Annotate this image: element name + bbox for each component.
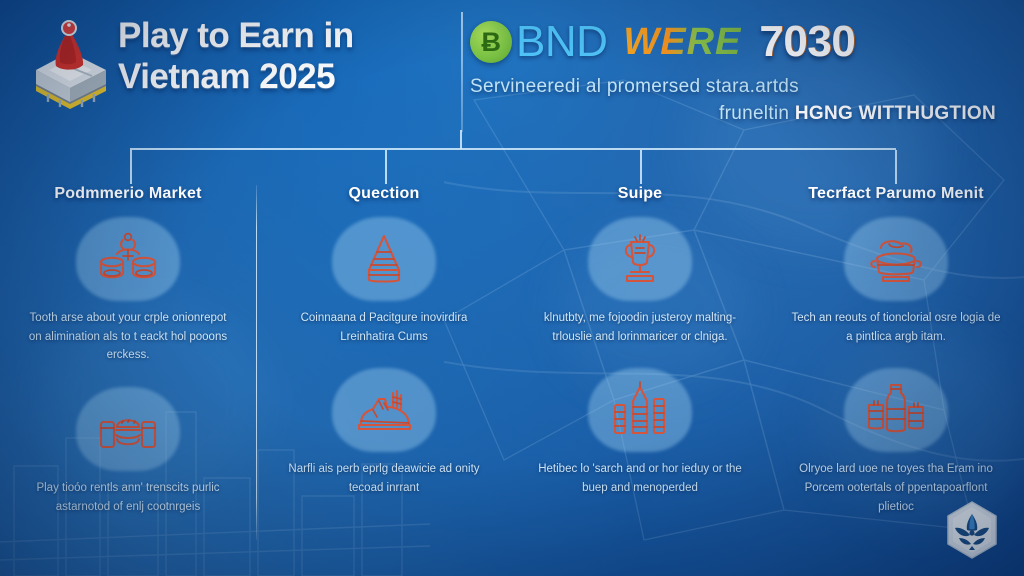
column-quection: Quection Coinnaana d Pacitgure inovirdir… (256, 185, 512, 560)
column-cell: Coinnaana d Pacitgure inovirdira Lreinha… (274, 217, 494, 346)
bottle-and-jars-icon (844, 368, 948, 452)
column-cell: Tooth arse about your crple onionrepot o… (18, 217, 238, 365)
bitcoin-icon: Ƀ (470, 21, 512, 63)
tree-drop-2 (385, 150, 387, 184)
tree-drop-3 (640, 150, 642, 184)
hexagon-emblem-logo (944, 500, 1000, 560)
cell-text: klnutbty, me fojoodin justeroy malting-t… (530, 309, 750, 346)
pot-and-bowl-icon (844, 217, 948, 301)
game-console-figure-icon (22, 12, 118, 112)
column-podmmerio-market: Podmmerio Market (0, 185, 256, 560)
tree-drop-1 (130, 150, 132, 184)
kicker-number: 7030 (759, 17, 855, 67)
column-cell: Tech an reouts of tionclorial osre logia… (786, 217, 1006, 346)
sneaker-shoe-icon (332, 368, 436, 452)
cell-text: Hetibec lo 'sarch and or hor ieduy or th… (530, 460, 750, 497)
columns-container: Podmmerio Market (0, 185, 1024, 560)
city-skyline-icon (588, 368, 692, 452)
column-heading: Tecrfact Parumo Menit (786, 185, 1006, 207)
burger-and-cups-icon (76, 387, 180, 471)
header-right-block: Ƀ BND WERE 7030 Servineeredi al promerse… (470, 14, 1010, 125)
header-divider (461, 12, 463, 132)
column-cell: Olryoe lard uoe ne toyes tha Eram ino Po… (786, 368, 1006, 516)
trophy-cup-icon (588, 217, 692, 301)
ticker-label: BND (516, 17, 607, 67)
header-subtitle-line-1: Servineeredi al promersed stara.artds (470, 76, 1010, 98)
cell-text: Play tioóo rentls ann' trenscits purlic … (18, 479, 238, 516)
script-word-label: WERE (623, 21, 741, 64)
column-heading: Quection (274, 185, 494, 207)
conical-hat-icon (332, 217, 436, 301)
column-heading: Podmmerio Market (18, 185, 238, 207)
header-subtitle-light: fruneltin (719, 103, 789, 124)
page-title: Play to Earn in Vietnam 2025 (118, 16, 448, 97)
two-drums-and-ribbon-icon (76, 217, 180, 301)
column-heading: Suipe (530, 185, 750, 207)
column-separator (256, 185, 257, 540)
column-cell: klnutbty, me fojoodin justeroy malting-t… (530, 217, 750, 346)
header-subtitle-line-2: fruneltin HGNG WITTHUGTION (470, 103, 1010, 125)
poster-canvas: Play to Earn in Vietnam 2025 Ƀ BND WERE … (0, 0, 1024, 576)
cell-text: Narfli ais perb eprlg deawicie ad onity … (274, 460, 494, 497)
kicker-line: Ƀ BND WERE 7030 (470, 14, 1010, 70)
column-suipe: Suipe klnutbty, me fojoodin justeroy mal… (512, 185, 768, 560)
column-cell: Hetibec lo 'sarch and or hor ieduy or th… (530, 368, 750, 497)
cell-text: Tooth arse about your crple onionrepot o… (18, 309, 238, 365)
column-cell: Narfli ais perb eprlg deawicie ad onity … (274, 368, 494, 497)
cell-text: Tech an reouts of tionclorial osre logia… (786, 309, 1006, 346)
tree-drop-4 (895, 150, 897, 184)
header-subtitle-bold: HGNG WITTHUGTION (795, 103, 996, 124)
cell-text: Coinnaana d Pacitgure inovirdira Lreinha… (274, 309, 494, 346)
column-cell: Play tioóo rentls ann' trenscits purlic … (18, 387, 238, 516)
header: Play to Earn in Vietnam 2025 Ƀ BND WERE … (0, 0, 1024, 150)
